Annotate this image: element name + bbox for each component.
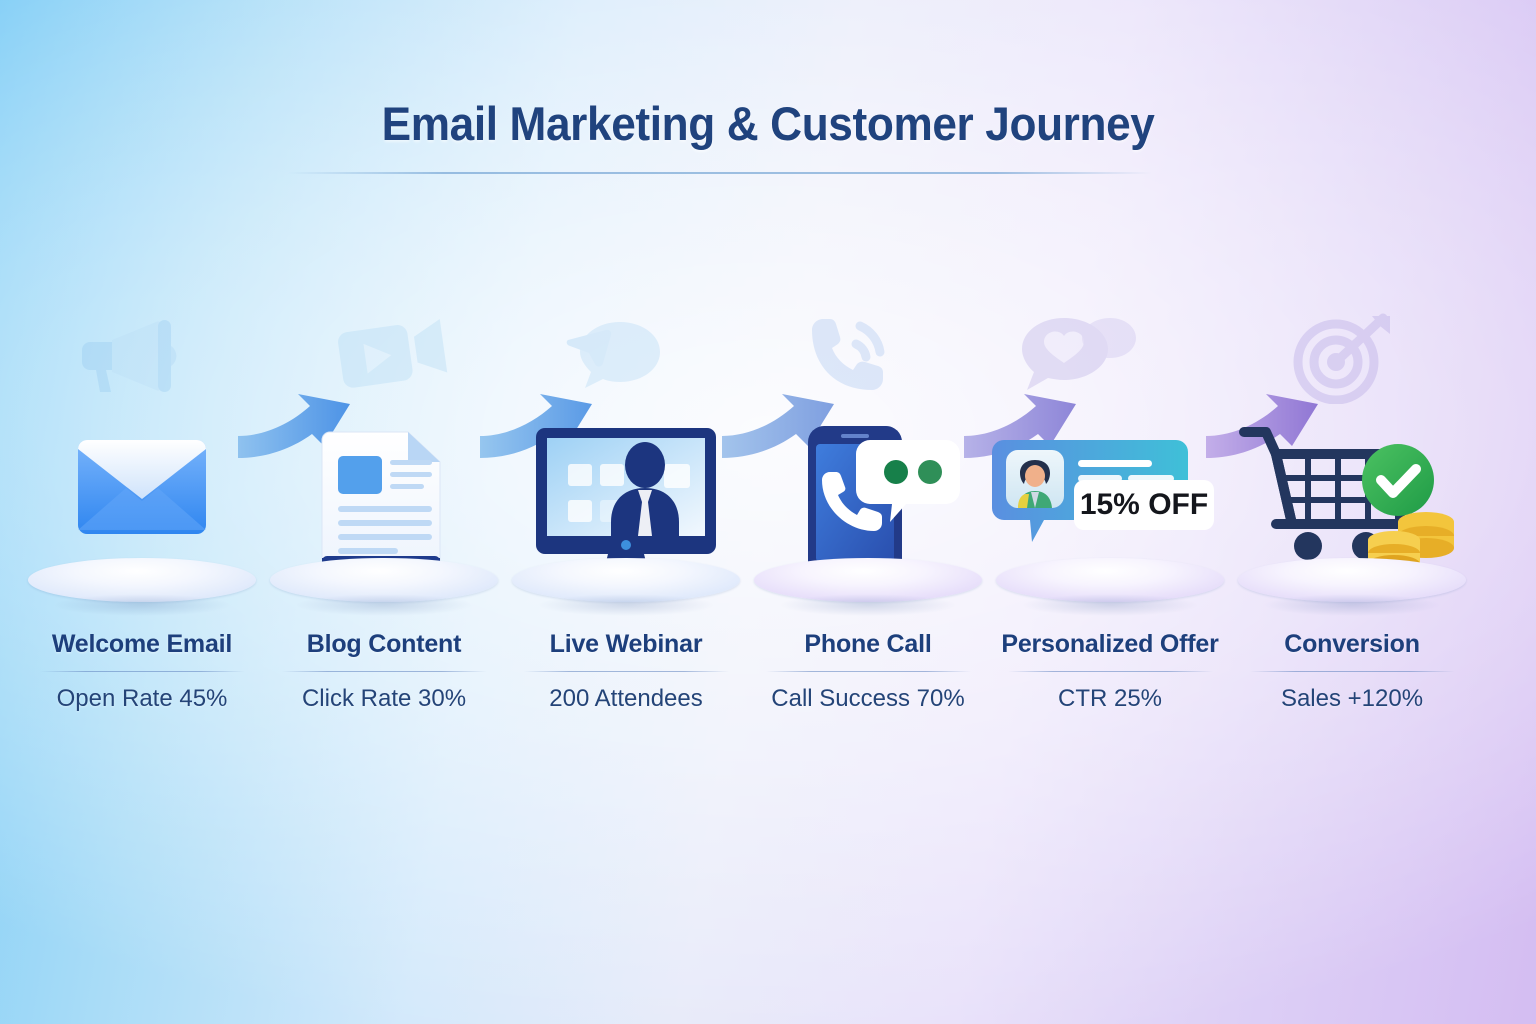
- title-block: Email Marketing & Customer Journey: [0, 96, 1536, 151]
- pedestal: [270, 558, 498, 614]
- step-label: Personalized Offer: [982, 630, 1238, 659]
- step-conversion[interactable]: Conversion Sales +120%: [1230, 300, 1474, 770]
- pedestal: [996, 558, 1224, 614]
- caption-divider: [1250, 671, 1455, 672]
- page-title: Email Marketing & Customer Journey: [382, 96, 1155, 151]
- step-caption: Phone Call Call Success 70%: [740, 630, 996, 713]
- step-label: Welcome Email: [14, 630, 270, 659]
- caption-divider: [1008, 671, 1213, 672]
- step-caption: Personalized Offer CTR 25%: [982, 630, 1238, 713]
- step-metric: CTR 25%: [982, 685, 1238, 713]
- caption-divider: [282, 671, 487, 672]
- caption-divider: [40, 671, 245, 672]
- step-label: Phone Call: [740, 630, 996, 659]
- step-caption: Welcome Email Open Rate 45%: [14, 630, 270, 713]
- caption-divider: [766, 671, 971, 672]
- infographic-canvas: Email Marketing & Customer Journey: [0, 0, 1536, 1024]
- step-metric: Sales +120%: [1224, 685, 1480, 713]
- step-caption: Live Webinar 200 Attendees: [498, 630, 754, 713]
- step-welcome-email[interactable]: Welcome Email Open Rate 45%: [20, 300, 264, 770]
- step-caption: Conversion Sales +120%: [1224, 630, 1480, 713]
- journey-steps: Welcome Email Open Rate 45%: [0, 300, 1536, 770]
- step-metric: Open Rate 45%: [14, 685, 270, 713]
- step-metric: 200 Attendees: [498, 685, 754, 713]
- pedestal: [512, 558, 740, 614]
- pedestal: [28, 558, 256, 614]
- offer-badge-text: 15% OFF: [1080, 488, 1208, 521]
- step-metric: Call Success 70%: [740, 685, 996, 713]
- caption-divider: [524, 671, 729, 672]
- pedestal: [754, 558, 982, 614]
- step-blog-content[interactable]: Blog Content Click Rate 30%: [262, 300, 506, 770]
- pedestal: [1238, 558, 1466, 614]
- step-live-webinar[interactable]: Live Webinar 200 Attendees: [504, 300, 748, 770]
- step-label: Blog Content: [256, 630, 512, 659]
- step-label: Live Webinar: [498, 630, 754, 659]
- step-label: Conversion: [1224, 630, 1480, 659]
- step-phone-call[interactable]: Phone Call Call Success 70%: [746, 300, 990, 770]
- step-metric: Click Rate 30%: [256, 685, 512, 713]
- title-divider: [288, 172, 1152, 174]
- step-personalized-offer[interactable]: 15% OFF Personalized Offer CTR 25%: [988, 300, 1232, 770]
- step-caption: Blog Content Click Rate 30%: [256, 630, 512, 713]
